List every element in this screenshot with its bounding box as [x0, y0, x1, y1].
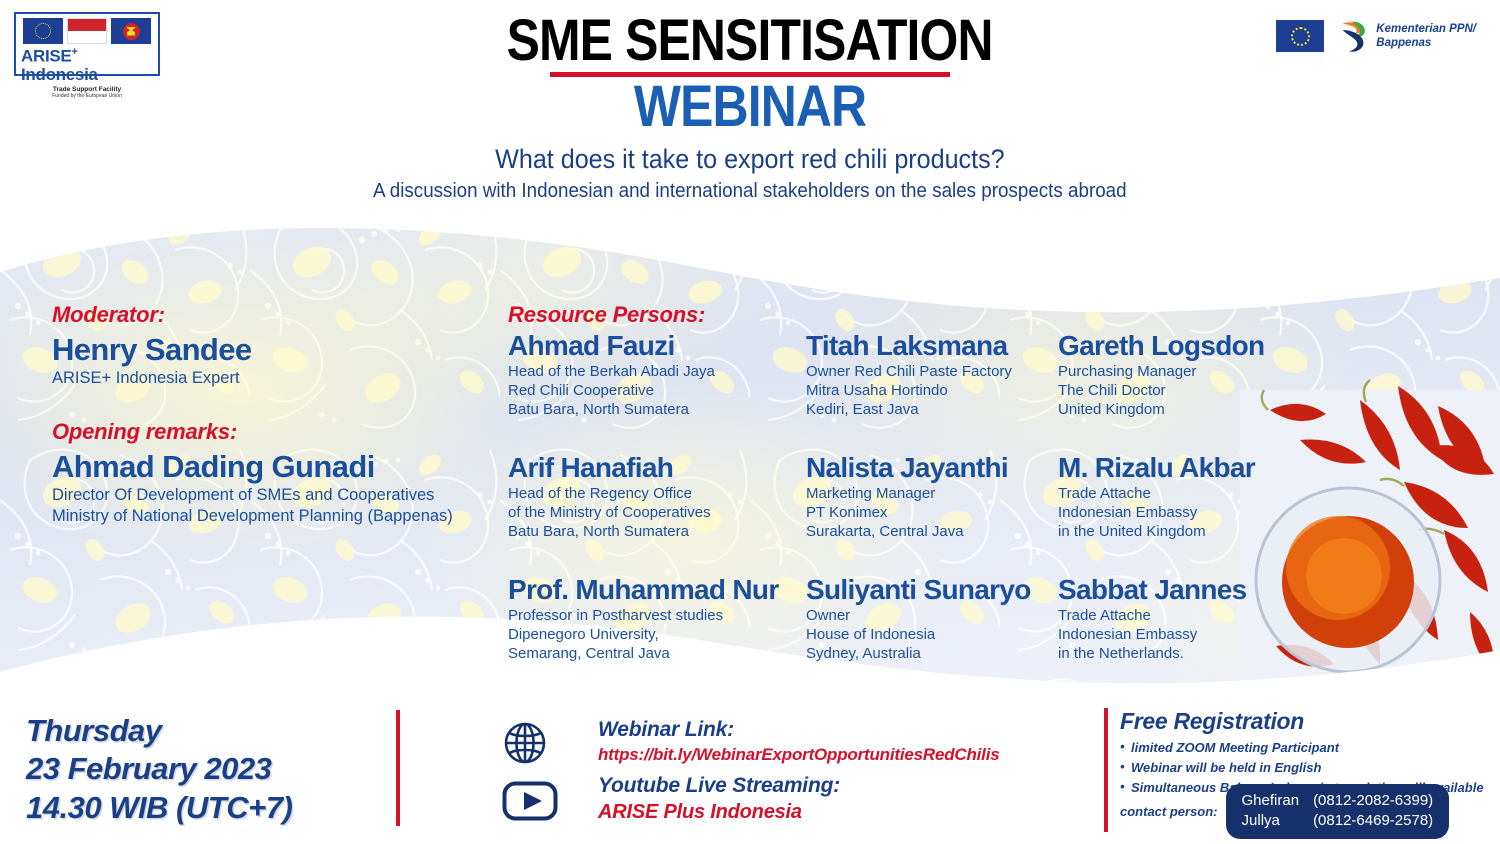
moderator-role: ARISE+ Indonesia Expert [52, 368, 482, 389]
registration-bullet: limited ZOOM Meeting Participant [1120, 738, 1490, 758]
speaker-role-line3: United Kingdom [1058, 400, 1290, 419]
youtube-icon-box[interactable] [502, 772, 558, 830]
contact-phone: (0812-2082-6399) [1313, 791, 1433, 811]
moderator-and-opening-column: Moderator: Henry Sandee ARISE+ Indonesia… [52, 302, 482, 527]
speaker-role-line2: Indonesian Embassy [1058, 503, 1290, 522]
webinar-link-row: Webinar Link: https://bit.ly/WebinarExpo… [598, 712, 999, 770]
speaker-card: M. Rizalu Akbar Trade Attache Indonesian… [1058, 454, 1290, 554]
speaker-role-line3: Kediri, East Java [806, 400, 1054, 419]
speaker-role-line2: Red Chili Cooperative [508, 381, 798, 400]
speaker-card: Sabbat Jannes Trade Attache Indonesian E… [1058, 576, 1290, 676]
youtube-channel-name[interactable]: ARISE Plus Indonesia [598, 801, 999, 824]
speaker-name: Suliyanti Sunaryo [806, 576, 1054, 604]
speaker-card: Ahmad Fauzi Head of the Berkah Abadi Jay… [508, 332, 798, 432]
webinar-link-url[interactable]: https://bit.ly/WebinarExportOpportunitie… [598, 745, 999, 765]
speaker-role-line2: The Chili Doctor [1058, 381, 1290, 400]
speaker-role: Professor in Postharvest studies Dipeneg… [508, 606, 798, 664]
page-title-line2: WEBINAR [634, 78, 866, 136]
event-datetime: Thursday 23 February 2023 14.30 WIB (UTC… [26, 712, 292, 827]
youtube-label: Youtube Live Streaming: [598, 774, 999, 798]
speaker-role-line2: of the Ministry of Cooperatives [508, 503, 798, 522]
speaker-role-line3: Batu Bara, North Sumatera [508, 522, 798, 541]
footer-divider-left [396, 710, 400, 826]
speaker-role-line3: Semarang, Central Java [508, 644, 798, 663]
speaker-card: Prof. Muhammad Nur Professor in Postharv… [508, 576, 798, 676]
moderator-label: Moderator: [52, 302, 165, 327]
speaker-card: Gareth Logsdon Purchasing Manager The Ch… [1058, 332, 1290, 432]
opening-speaker-role: Director Of Development of SMEs and Coop… [52, 485, 482, 527]
speaker-role-line1: Trade Attache [1058, 606, 1290, 625]
contact-phone: (0812-6469-2578) [1313, 811, 1433, 831]
speaker-role: Trade Attache Indonesian Embassy in the … [1058, 484, 1290, 542]
speaker-name: Nalista Jayanthi [806, 454, 1054, 482]
resource-persons-label-wrap: Resource Persons: [508, 302, 705, 328]
speaker-role-line3: Batu Bara, North Sumatera [508, 400, 798, 419]
speaker-card: Nalista Jayanthi Marketing Manager PT Ko… [806, 454, 1054, 554]
event-day: Thursday [26, 712, 292, 750]
subtitle-question: What does it take to export red chili pr… [495, 144, 1004, 175]
contact-names: Ghefiran Jullya [1242, 791, 1300, 831]
contact-person-label: contact person: [1120, 804, 1218, 819]
speaker-role-line1: Head of the Berkah Abadi Jaya [508, 362, 798, 381]
speaker-name: M. Rizalu Akbar [1058, 454, 1290, 482]
moderator-name: Henry Sandee [52, 334, 482, 365]
contact-name: Ghefiran [1242, 791, 1300, 811]
speaker-role: Purchasing Manager The Chili Doctor Unit… [1058, 362, 1290, 420]
speaker-role-line2: Dipenegoro University, [508, 625, 798, 644]
subtitle-description: A discussion with Indonesian and interna… [373, 180, 1127, 203]
opening-remarks-label: Opening remarks: [52, 419, 482, 445]
speaker-role: Marketing Manager PT Konimex Surakarta, … [806, 484, 1054, 542]
contact-pill: Ghefiran Jullya (0812-2082-6399) (0812-6… [1226, 784, 1450, 839]
speaker-name: Gareth Logsdon [1058, 332, 1290, 360]
title-block: SME SENSITISATION WEBINAR What does it t… [0, 12, 1500, 203]
speaker-name: Titah Laksmana [806, 332, 1054, 360]
speaker-card: Titah Laksmana Owner Red Chili Paste Fac… [806, 332, 1054, 432]
opening-role-line2: Ministry of National Development Plannin… [52, 506, 482, 527]
youtube-icon[interactable] [502, 781, 558, 821]
speaker-name: Ahmad Fauzi [508, 332, 798, 360]
globe-icon [502, 720, 548, 766]
webinar-link-label: Webinar Link: [598, 718, 999, 742]
contact-name: Jullya [1242, 811, 1300, 831]
speaker-role-line1: Professor in Postharvest studies [508, 606, 798, 625]
speaker-name: Sabbat Jannes [1058, 576, 1290, 604]
speaker-role: Owner Red Chili Paste Factory Mitra Usah… [806, 362, 1054, 420]
registration-block: Free Registration limited ZOOM Meeting P… [1120, 708, 1490, 797]
footer-section: Thursday 23 February 2023 14.30 WIB (UTC… [0, 700, 1500, 844]
globe-icon-box [502, 714, 558, 772]
speaker-role-line3: in the United Kingdom [1058, 522, 1290, 541]
footer-divider-right [1104, 708, 1108, 832]
speaker-role-line1: Trade Attache [1058, 484, 1290, 503]
opening-speaker-name: Ahmad Dading Gunadi [52, 451, 482, 482]
event-time: 14.30 WIB (UTC+7) [26, 789, 292, 827]
footer-icon-column [502, 714, 558, 830]
speaker-role: Head of the Regency Office of the Minist… [508, 484, 798, 542]
speaker-role-line2: Indonesian Embassy [1058, 625, 1290, 644]
event-date: 23 February 2023 [26, 750, 292, 788]
speaker-role-line1: Purchasing Manager [1058, 362, 1290, 381]
speakers-section: Moderator: Henry Sandee ARISE+ Indonesia… [0, 210, 1500, 710]
speaker-role-line2: Mitra Usaha Hortindo [806, 381, 1054, 400]
speaker-role-line3: Surakarta, Central Java [806, 522, 1054, 541]
speaker-role-line1: Head of the Regency Office [508, 484, 798, 503]
speaker-role-line3: in the Netherlands. [1058, 644, 1290, 663]
resource-persons-label: Resource Persons: [508, 302, 705, 327]
speaker-role-line1: Owner [806, 606, 1054, 625]
speaker-role-line1: Marketing Manager [806, 484, 1054, 503]
speaker-role-line1: Owner Red Chili Paste Factory [806, 362, 1054, 381]
speaker-name: Arif Hanafiah [508, 454, 798, 482]
page-title-line1: SME SENSITISATION [507, 12, 993, 70]
speaker-role-line3: Sydney, Australia [806, 644, 1054, 663]
speaker-card: Suliyanti Sunaryo Owner House of Indones… [806, 576, 1054, 676]
speaker-role: Head of the Berkah Abadi Jaya Red Chili … [508, 362, 798, 420]
speaker-role-line2: House of Indonesia [806, 625, 1054, 644]
opening-role-line1: Director Of Development of SMEs and Coop… [52, 485, 482, 506]
registration-title: Free Registration [1120, 708, 1490, 735]
speaker-role-line2: PT Konimex [806, 503, 1054, 522]
resource-column-3: Gareth Logsdon Purchasing Manager The Ch… [1058, 332, 1290, 698]
speaker-role: Trade Attache Indonesian Embassy in the … [1058, 606, 1290, 664]
speaker-card: Arif Hanafiah Head of the Regency Office… [508, 454, 798, 554]
resource-column-2: Titah Laksmana Owner Red Chili Paste Fac… [806, 332, 1054, 698]
footer-links-column: Webinar Link: https://bit.ly/WebinarExpo… [598, 712, 999, 828]
contact-phones: (0812-2082-6399) (0812-6469-2578) [1313, 791, 1433, 831]
registration-bullet: Webinar will be held in English [1120, 758, 1490, 778]
speaker-name: Prof. Muhammad Nur [508, 576, 798, 604]
youtube-link-row: Youtube Live Streaming: ARISE Plus Indon… [598, 770, 999, 828]
speaker-role: Owner House of Indonesia Sydney, Austral… [806, 606, 1054, 664]
resource-column-1: Ahmad Fauzi Head of the Berkah Abadi Jay… [508, 332, 798, 698]
contact-row: contact person: Ghefiran Jullya (0812-20… [1120, 784, 1490, 839]
